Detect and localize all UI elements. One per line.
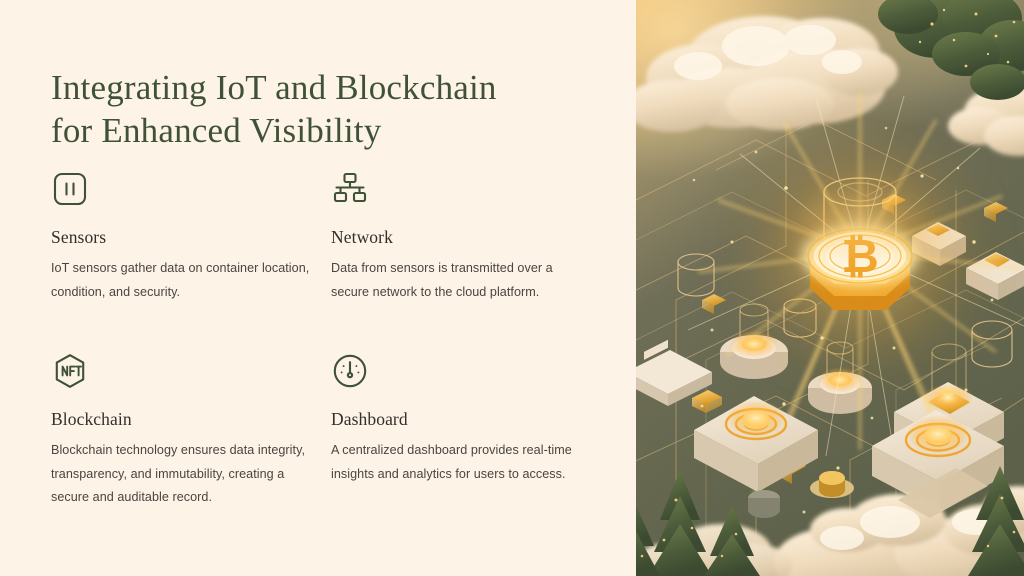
feature-item-sensors: Sensors IoT sensors gather data on conta… (51, 170, 313, 304)
feature-item-dashboard: Dashboard A centralized dashboard provid… (331, 352, 593, 510)
feature-heading: Sensors (51, 226, 313, 248)
feature-heading: Blockchain (51, 408, 313, 430)
slide-root: Integrating IoT and Blockchain for Enhan… (0, 0, 1024, 576)
feature-body: Data from sensors is transmitted over a … (331, 257, 593, 304)
isometric-blockchain-network-illustration: ₿ (636, 0, 1024, 576)
feature-body: A centralized dashboard provides real-ti… (331, 439, 593, 486)
feature-grid: Sensors IoT sensors gather data on conta… (51, 170, 611, 510)
sensor-module-icon (51, 170, 313, 212)
artwork-panel: ₿ (636, 0, 1024, 576)
feature-body: IoT sensors gather data on container loc… (51, 257, 313, 304)
feature-item-blockchain: Blockchain Blockchain technology ensures… (51, 352, 313, 510)
feature-heading: Network (331, 226, 593, 248)
gauge-dashboard-icon (331, 352, 593, 394)
feature-body: Blockchain technology ensures data integ… (51, 439, 313, 510)
nft-hexagon-icon (51, 352, 313, 394)
feature-heading: Dashboard (331, 408, 593, 430)
network-nodes-icon (331, 170, 593, 212)
page-title: Integrating IoT and Blockchain for Enhan… (51, 66, 591, 152)
content-panel: Integrating IoT and Blockchain for Enhan… (0, 0, 636, 576)
feature-item-network: Network Data from sensors is transmitted… (331, 170, 593, 304)
